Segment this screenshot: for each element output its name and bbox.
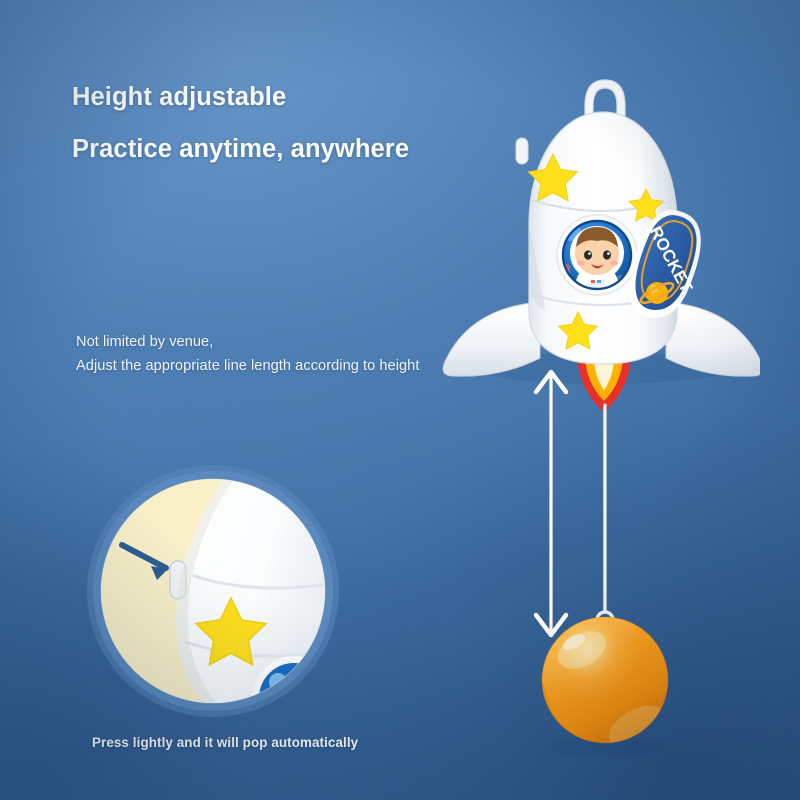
- press-button-closeup-inset: [82, 460, 344, 722]
- height-adjust-double-arrow: [536, 372, 566, 635]
- press-button[interactable]: [516, 138, 528, 164]
- inset-star: [196, 598, 266, 665]
- rocket-body: [529, 112, 677, 364]
- inset-content: [82, 460, 344, 722]
- background-vignette: [0, 0, 800, 800]
- rocket-badge: ROCKET: [629, 210, 701, 318]
- star-top: [529, 154, 578, 201]
- inset-caption: Press lightly and it will pop automatica…: [92, 735, 358, 750]
- porthole-astronaut: [557, 215, 637, 304]
- rocket-badge-text: ROCKET: [646, 223, 697, 296]
- hang-loop-icon: [585, 80, 625, 120]
- product-banner: Height adjustable Practice anytime, anyw…: [0, 0, 800, 800]
- headline-line-2: Practice anytime, anywhere: [72, 135, 409, 164]
- arrow-head-up: [536, 372, 566, 392]
- rocket-fins: [443, 302, 760, 376]
- star-bottom: [559, 312, 598, 349]
- orange-ball: [542, 617, 670, 757]
- hanging-string: [604, 405, 605, 612]
- press-pointer-arrow: [122, 545, 168, 580]
- rocket-ball-assembly: ROCKET: [440, 50, 760, 790]
- arrow-head-down: [536, 615, 566, 635]
- inset-press-button: [170, 561, 186, 599]
- inset-porthole-partial: [252, 656, 336, 722]
- rocket-flame: [577, 352, 631, 412]
- star-right: [629, 189, 663, 221]
- subtext-line-1: Not limited by venue,: [76, 334, 213, 350]
- subtext-line-2: Adjust the appropriate line length accor…: [76, 358, 419, 374]
- ball-connector-ring: [595, 612, 615, 629]
- planet-icon: [639, 280, 676, 306]
- headline-line-1: Height adjustable: [72, 83, 286, 112]
